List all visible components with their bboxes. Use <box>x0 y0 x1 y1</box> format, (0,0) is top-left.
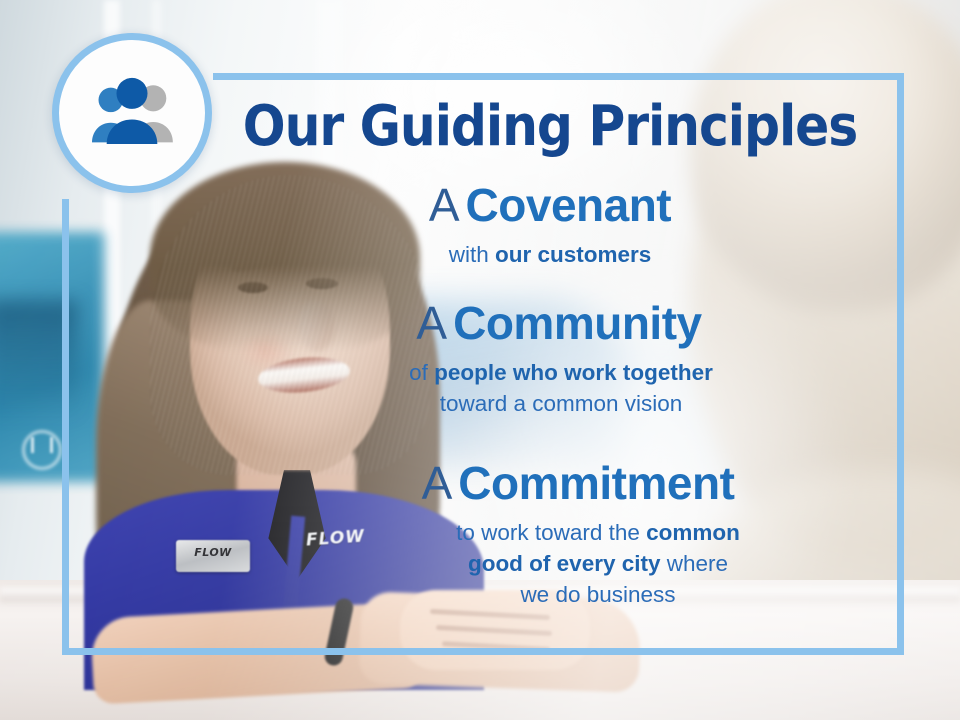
detail-text: to work toward the <box>456 520 646 545</box>
principle-article: A <box>422 457 453 509</box>
principle-keyword: Covenant <box>466 179 672 231</box>
principle-heading: ACommunity <box>200 298 900 350</box>
detail-text: toward a common vision <box>440 391 683 416</box>
detail-text: we do business <box>520 582 675 607</box>
detail-line: of people who work together <box>222 357 900 388</box>
detail-emphasis: common <box>646 520 740 545</box>
detail-line: good of every city where <box>296 548 900 579</box>
detail-line: we do business <box>296 579 900 610</box>
detail-text: with <box>449 242 495 267</box>
principle-detail: with our customers <box>200 239 900 270</box>
detail-line: toward a common vision <box>222 388 900 419</box>
detail-text: of <box>409 360 434 385</box>
principle-detail: of people who work togethertoward a comm… <box>200 357 900 419</box>
principle-keyword: Commitment <box>458 457 734 509</box>
principle-community: ACommunity of people who work togetherto… <box>200 298 900 419</box>
detail-text: where <box>661 551 729 576</box>
detail-emphasis: good of every city <box>468 551 661 576</box>
principle-article: A <box>416 297 447 349</box>
principle-detail: to work toward the commongood of every c… <box>200 517 900 610</box>
detail-emphasis: people who work together <box>434 360 713 385</box>
principle-heading: ACovenant <box>200 180 900 232</box>
principle-article: A <box>429 179 460 231</box>
guiding-principles-banner: FLOW FLOW Our Guiding Prin <box>0 0 960 720</box>
detail-emphasis: our customers <box>495 242 651 267</box>
principle-covenant: ACovenant with our customers <box>200 180 900 270</box>
principle-keyword: Community <box>453 297 702 349</box>
principle-commitment: ACommitment to work toward the commongoo… <box>200 458 900 610</box>
page-title: Our Guiding Principles <box>235 98 865 155</box>
detail-line: to work toward the common <box>296 517 900 548</box>
detail-line: with our customers <box>200 239 900 270</box>
people-group-icon <box>52 33 212 193</box>
principle-heading: ACommitment <box>200 458 900 510</box>
